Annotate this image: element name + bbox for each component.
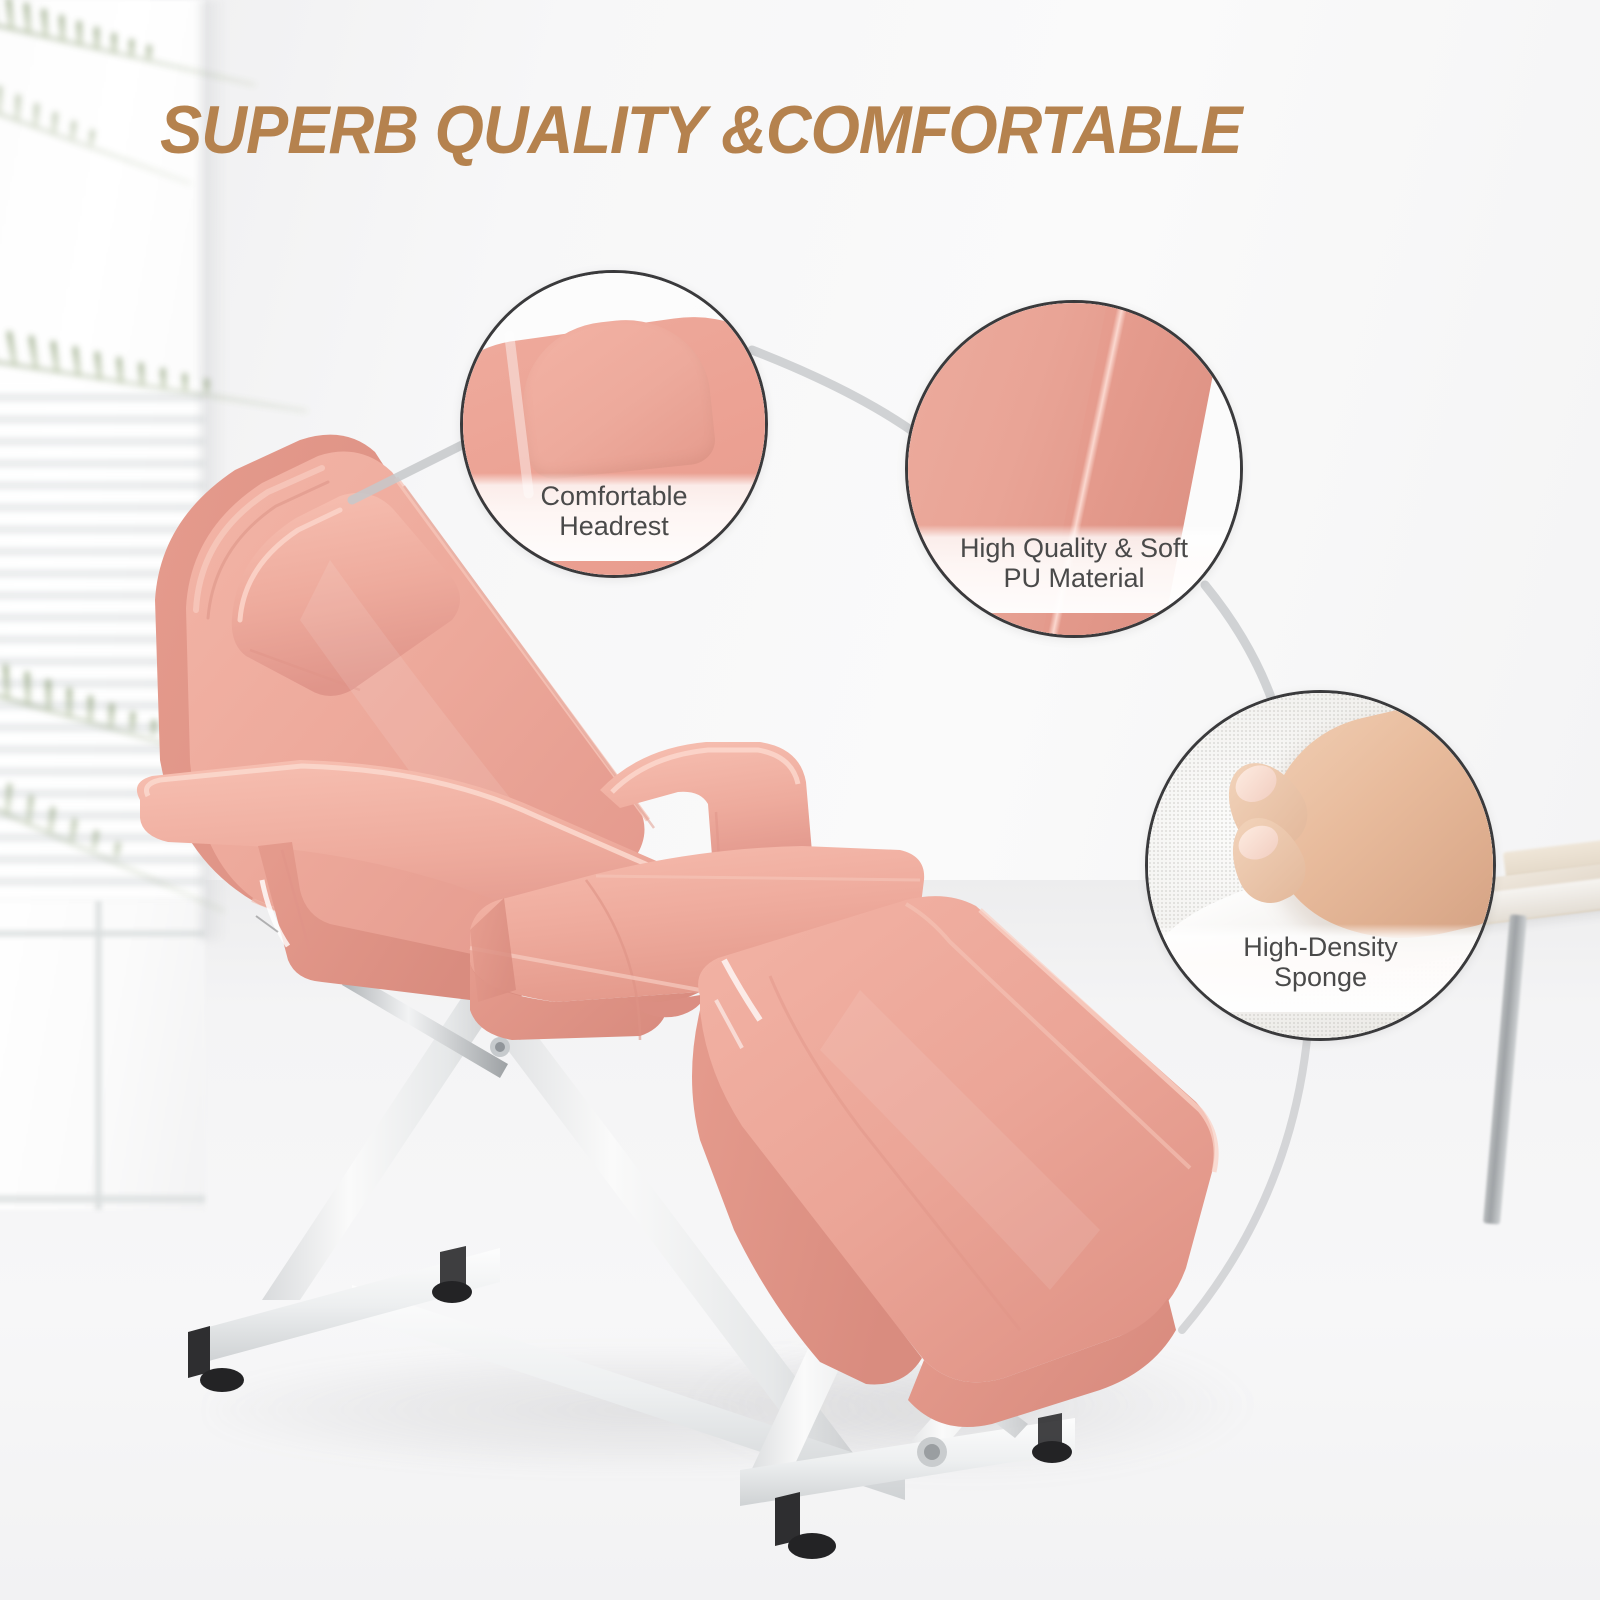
callout-caption-line2: PU Material bbox=[918, 563, 1230, 593]
callout-high-density-sponge[interactable]: High-Density Sponge bbox=[1145, 690, 1496, 1041]
callout-caption-line2: Headrest bbox=[473, 511, 755, 541]
callout-comfortable-headrest[interactable]: Comfortable Headrest bbox=[460, 270, 768, 578]
callout-caption: High Quality & Soft PU Material bbox=[908, 525, 1240, 613]
callout-caption-line1: High-Density bbox=[1158, 932, 1483, 962]
page-title: SUPERB QUALITY &COMFORTABLE bbox=[160, 96, 1369, 164]
callout-caption-line1: Comfortable bbox=[473, 481, 755, 511]
callout-pu-material[interactable]: High Quality & Soft PU Material bbox=[905, 300, 1243, 638]
callout-caption: Comfortable Headrest bbox=[463, 473, 765, 561]
callout-caption-line1: High Quality & Soft bbox=[918, 533, 1230, 563]
product-marketing-image: SUPERB QUALITY &COMFORTABLE Comfortable … bbox=[0, 0, 1600, 1600]
callout-caption-line2: Sponge bbox=[1158, 962, 1483, 992]
callout-caption: High-Density Sponge bbox=[1148, 924, 1493, 1012]
